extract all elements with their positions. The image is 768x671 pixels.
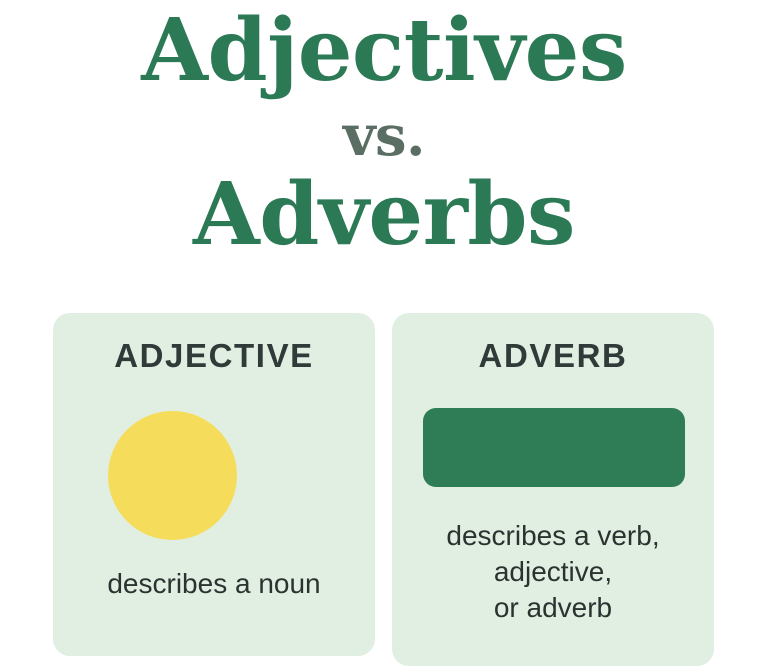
yellow-circle-icon [108, 411, 237, 540]
card-adjective: ADJECTIVE describes a noun [53, 313, 375, 656]
title-line-adjectives: Adjectives [0, 8, 768, 94]
caption-line: describes a noun [53, 566, 375, 602]
caption-line: or adverb [392, 590, 714, 626]
caption-line: adjective, [392, 554, 714, 590]
card-adverb: ADVERB describes a verb, adjective, or a… [392, 313, 714, 666]
title-connector-vs: vs. [0, 108, 768, 164]
card-adjective-heading: ADJECTIVE [53, 339, 375, 372]
caption-line: describes a verb, [392, 518, 714, 554]
card-adjective-caption: describes a noun [53, 566, 375, 602]
green-rounded-rectangle-icon [423, 408, 685, 487]
card-adverb-heading: ADVERB [392, 339, 714, 372]
card-adverb-caption: describes a verb, adjective, or adverb [392, 518, 714, 625]
title-line-adverbs: Adverbs [0, 172, 768, 258]
title-block: Adjectives vs. Adverbs [0, 0, 768, 290]
infographic-root: Adjectives vs. Adverbs ADJECTIVE describ… [0, 0, 768, 671]
